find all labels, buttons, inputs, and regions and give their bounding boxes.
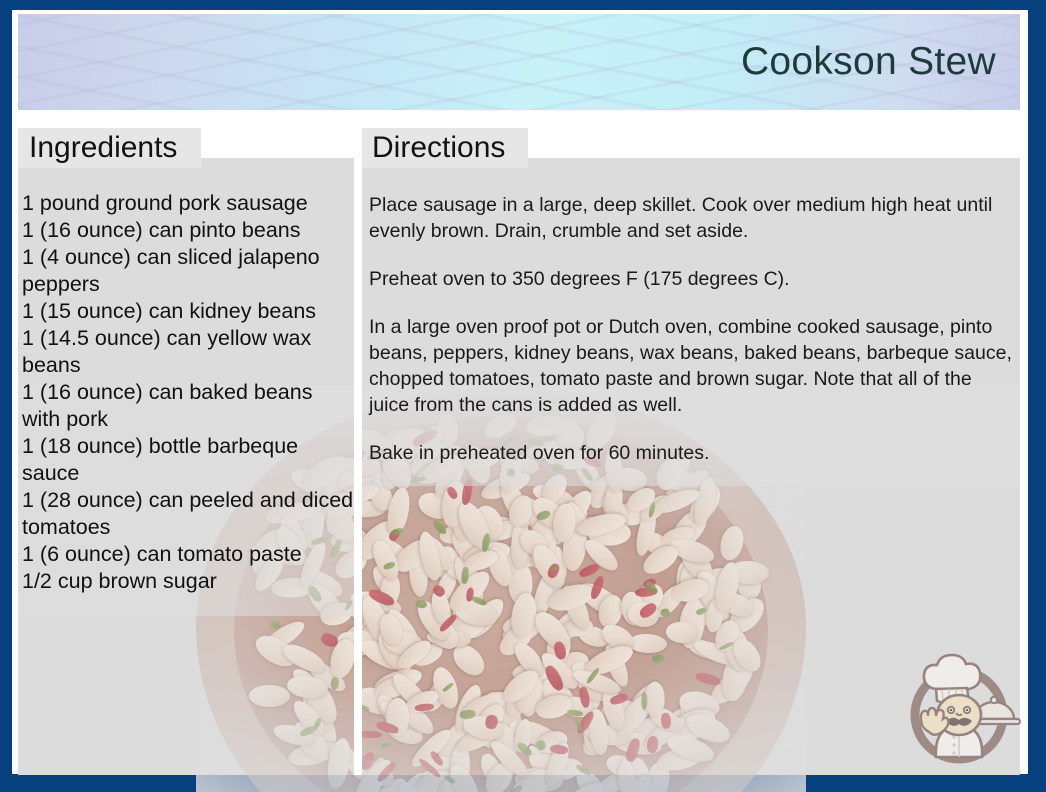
frame-top-border	[0, 0, 1046, 10]
direction-step: Bake in preheated oven for 60 minutes.	[369, 440, 1014, 466]
directions-heading: Directions	[372, 133, 505, 163]
ingredient-item: 1/2 cup brown sugar	[22, 568, 356, 595]
ingredients-list: 1 pound ground pork sausage1 (16 ounce) …	[22, 190, 356, 595]
page-title: Cookson Stew	[741, 40, 996, 84]
direction-step: In a large oven proof pot or Dutch oven,…	[369, 314, 1014, 418]
frame-right-border	[1028, 0, 1046, 792]
ingredient-item: 1 (14.5 ounce) can yellow wax beans	[22, 325, 356, 379]
directions-steps: Place sausage in a large, deep skillet. …	[369, 192, 1014, 466]
ingredient-item: 1 (18 ounce) bottle barbeque sauce	[22, 433, 356, 487]
frame-left-border	[0, 0, 12, 792]
chef-mascot-logo	[896, 645, 1022, 771]
ingredient-item: 1 (6 ounce) can tomato paste	[22, 541, 356, 568]
ingredient-item: 1 (15 ounce) can kidney beans	[22, 298, 356, 325]
frame-bottom-border	[0, 774, 1046, 792]
tab-directions[interactable]: Directions	[362, 128, 528, 168]
title-banner: Cookson Stew	[18, 14, 1020, 110]
tab-ingredients[interactable]: Ingredients	[18, 128, 201, 168]
ingredients-heading: Ingredients	[29, 133, 177, 163]
ingredient-item: 1 (16 ounce) can baked beans with pork	[22, 379, 356, 433]
ingredient-item: 1 (28 ounce) can peeled and diced tomato…	[22, 487, 356, 541]
ingredient-item: 1 pound ground pork sausage	[22, 190, 356, 217]
chef-mascot-icon	[896, 645, 1022, 771]
recipe-card-page: Cookson Stew Ingredients Directions 1 po…	[0, 0, 1046, 792]
ingredient-item: 1 (4 ounce) can sliced jalapeno peppers	[22, 244, 356, 298]
ingredient-item: 1 (16 ounce) can pinto beans	[22, 217, 356, 244]
waving-hand-icon	[921, 708, 949, 735]
direction-step: Place sausage in a large, deep skillet. …	[369, 192, 1014, 244]
direction-step: Preheat oven to 350 degrees F (175 degre…	[369, 266, 1014, 292]
